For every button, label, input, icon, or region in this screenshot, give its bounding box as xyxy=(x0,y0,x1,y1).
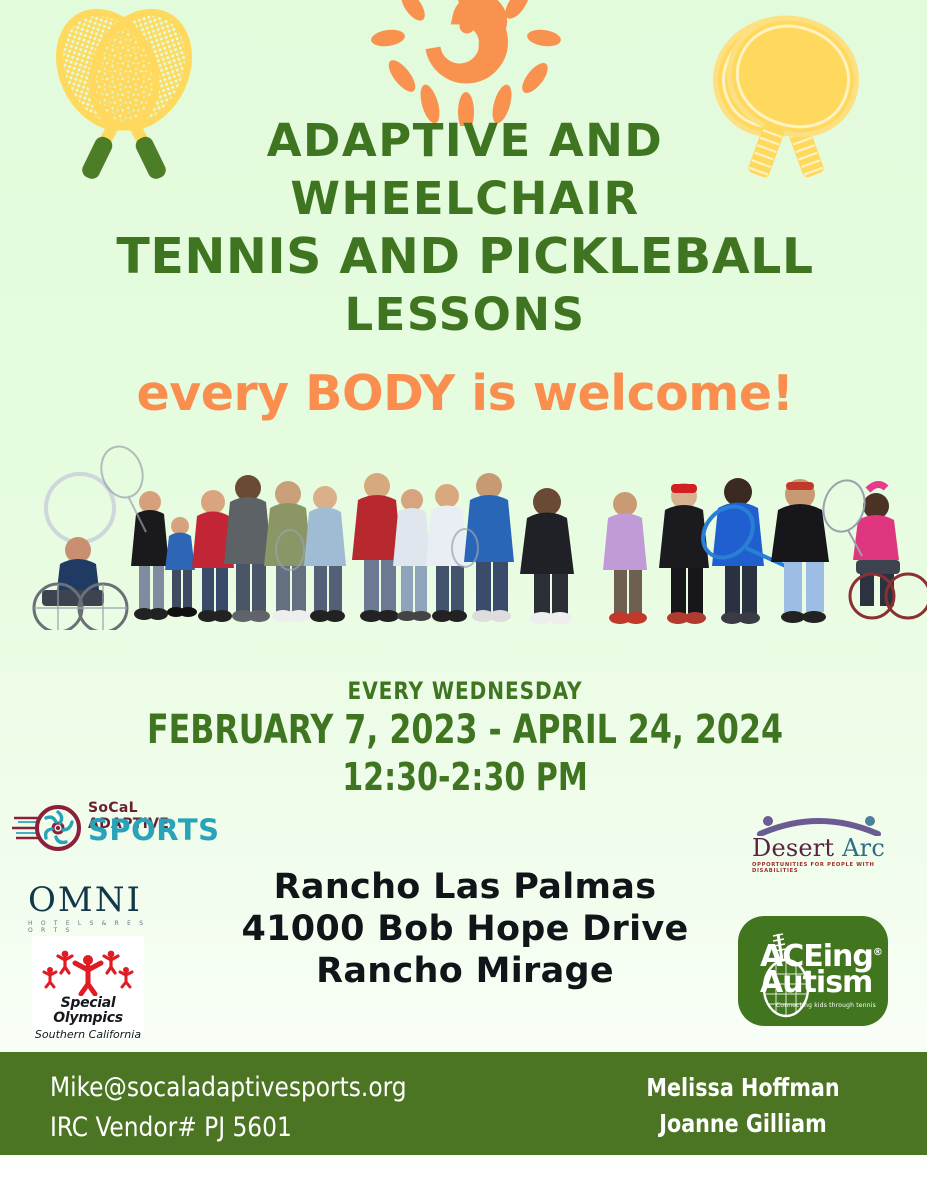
special-olympics-region: Southern California xyxy=(32,1028,144,1041)
special-olympics-line2: Olympics xyxy=(32,1011,144,1026)
omni-logo-word: OMNI xyxy=(28,882,152,918)
desert-arc-name: Desert Arc xyxy=(752,836,886,860)
footer-right-column: Melissa Hoffman Joanne Gilliam xyxy=(637,1070,849,1142)
address-block: Rancho Las Palmas 41000 Bob Hope Drive R… xyxy=(160,866,770,992)
aceing-autism-tagline: Connecting kids through tennis xyxy=(776,1002,876,1009)
street-address: 41000 Bob Hope Drive xyxy=(160,908,770,950)
schedule-time: 12:30-2:30 PM xyxy=(109,754,822,800)
footer-left-column: Mike@socaladaptivesports.org IRC Vendor#… xyxy=(50,1068,407,1148)
contact-person-2: Joanne Gilliam xyxy=(637,1106,849,1142)
contact-footer-bar: Mike@socaladaptivesports.org IRC Vendor#… xyxy=(0,1052,927,1155)
vendor-number: IRC Vendor# PJ 5601 xyxy=(50,1108,407,1148)
omni-logo-sub: H O T E L S & R E S O R T S xyxy=(28,920,152,934)
flyer-canvas: ADAPTIVE AND WHEELCHAIR TENNIS AND PICKL… xyxy=(0,0,927,1200)
headline-line-3: TENNIS AND PICKLEBALL xyxy=(60,228,870,286)
venue-name: Rancho Las Palmas xyxy=(160,866,770,908)
headline-line-1: ADAPTIVE AND xyxy=(60,112,870,170)
page-title: ADAPTIVE AND WHEELCHAIR TENNIS AND PICKL… xyxy=(60,112,870,344)
omni-logo: OMNI H O T E L S & R E S O R T S xyxy=(28,882,152,934)
desert-arc-tagline: OPPORTUNITIES FOR PEOPLE WITH DISABILITI… xyxy=(752,862,886,874)
special-olympics-line1: Special xyxy=(32,996,144,1011)
aceing-autism-word2: Autism xyxy=(760,968,872,998)
desert-arc-word1: Desert xyxy=(752,834,834,862)
socal-logo-line2: SPORTS xyxy=(88,816,220,845)
special-olympics-logo: Special Olympics Southern California xyxy=(32,936,144,1036)
aceing-autism-logo: ACEing® Autism Connecting kids through t… xyxy=(738,916,888,1026)
socal-adaptive-sports-logo: SoCaL ADAPTIVE SPORTS xyxy=(12,798,198,858)
spiral-sun-icon xyxy=(366,0,566,126)
desert-arc-logo: Desert Arc OPPORTUNITIES FOR PEOPLE WITH… xyxy=(752,812,886,868)
schedule-frequency: EVERY WEDNESDAY xyxy=(88,676,841,706)
headline-line-2: WHEELCHAIR xyxy=(60,170,870,228)
tagline: every BODY is welcome! xyxy=(60,366,870,422)
schedule-block: EVERY WEDNESDAY FEBRUARY 7, 2023 - APRIL… xyxy=(60,676,870,800)
registered-mark-icon: ® xyxy=(873,947,882,958)
contact-email[interactable]: Mike@socaladaptivesports.org xyxy=(50,1068,407,1108)
city-name: Rancho Mirage xyxy=(160,950,770,992)
desert-arc-word2: Arc xyxy=(842,834,885,862)
participants-photo-band xyxy=(0,440,927,630)
schedule-dates: FEBRUARY 7, 2023 - APRIL 24, 2024 xyxy=(109,706,822,754)
headline-line-4: LESSONS xyxy=(60,286,870,344)
contact-person-1: Melissa Hoffman xyxy=(637,1070,849,1106)
